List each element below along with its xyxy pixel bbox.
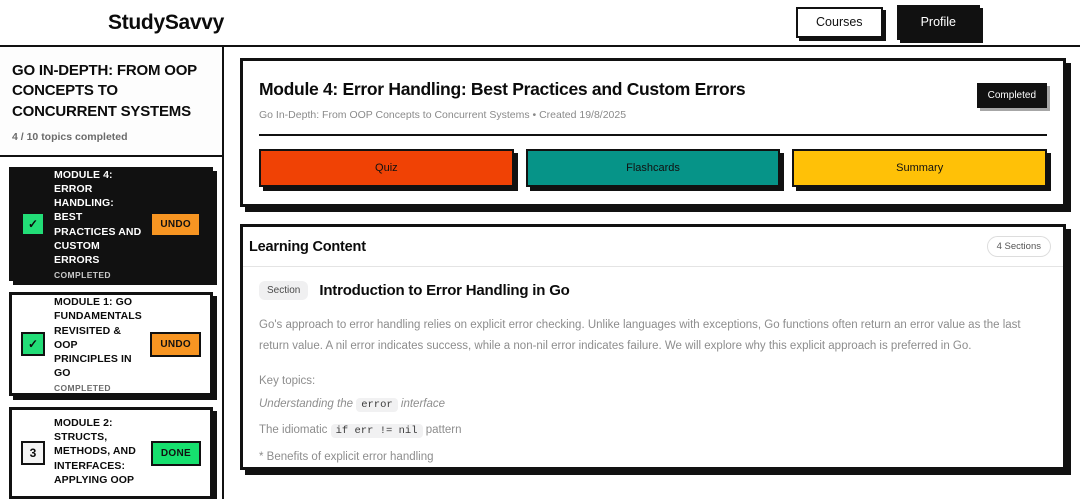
module-texts: MODULE 4: ERROR HANDLING: BEST PRACTICES… bbox=[54, 168, 141, 280]
module-detail-header: Module 4: Error Handling: Best Practices… bbox=[259, 79, 1047, 121]
module-action-row: Quiz Flashcards Summary bbox=[259, 149, 1047, 187]
check-icon: ✓ bbox=[21, 332, 45, 356]
inline-code: error bbox=[356, 398, 398, 412]
key-topic-item: * Benefits of explicit error handling bbox=[259, 448, 1047, 466]
profile-button[interactable]: Profile bbox=[897, 5, 980, 40]
module-status: COMPLETED bbox=[54, 270, 141, 280]
module-card-2[interactable]: 3 MODULE 2: STRUCTS, METHODS, AND INTERF… bbox=[9, 407, 213, 499]
section-title: Introduction to Error Handling in Go bbox=[319, 282, 569, 299]
page-title: Module 4: Error Handling: Best Practices… bbox=[259, 79, 977, 100]
module-status: COMPLETED bbox=[54, 383, 141, 393]
module-texts: MODULE 1: GO FUNDAMENTALS REVISITED & OO… bbox=[54, 295, 141, 393]
key-topics-label: Key topics: bbox=[259, 375, 1047, 387]
main-content: Module 4: Error Handling: Best Practices… bbox=[224, 47, 1080, 499]
course-progress-text: 4 / 10 topics completed bbox=[12, 131, 210, 143]
done-button[interactable]: DONE bbox=[151, 441, 201, 466]
module-detail-panel: Module 4: Error Handling: Best Practices… bbox=[240, 58, 1066, 207]
divider bbox=[259, 134, 1047, 136]
learning-content-title: Learning Content bbox=[249, 239, 366, 255]
module-number-badge: 3 bbox=[21, 441, 45, 465]
section-paragraph: Go's approach to error handling relies o… bbox=[259, 315, 1047, 358]
courses-button[interactable]: Courses bbox=[796, 7, 883, 38]
topic-text-pre: The idiomatic bbox=[259, 424, 331, 436]
module-title: MODULE 2: STRUCTS, METHODS, AND INTERFAC… bbox=[54, 416, 142, 487]
key-topic-item: Understanding the error interface bbox=[259, 395, 1047, 414]
top-bar-actions: Courses Profile bbox=[796, 5, 1064, 40]
breadcrumb: Go In-Depth: From OOP Concepts to Concur… bbox=[259, 109, 977, 121]
sidebar: GO IN-DEPTH: FROM OOP CONCEPTS TO CONCUR… bbox=[0, 47, 224, 499]
course-header: GO IN-DEPTH: FROM OOP CONCEPTS TO CONCUR… bbox=[0, 47, 222, 157]
module-title: MODULE 1: GO FUNDAMENTALS REVISITED & OO… bbox=[54, 295, 141, 380]
module-card-4[interactable]: ✓ MODULE 4: ERROR HANDLING: BEST PRACTIC… bbox=[9, 167, 213, 282]
module-list[interactable]: ✓ MODULE 4: ERROR HANDLING: BEST PRACTIC… bbox=[0, 157, 222, 499]
learning-content-header: Learning Content 4 Sections bbox=[243, 227, 1063, 267]
topic-text-pre: Understanding the bbox=[259, 398, 356, 410]
check-icon: ✓ bbox=[21, 212, 45, 236]
module-texts: MODULE 2: STRUCTS, METHODS, AND INTERFAC… bbox=[54, 416, 142, 490]
module-card-1[interactable]: ✓ MODULE 1: GO FUNDAMENTALS REVISITED & … bbox=[9, 292, 213, 396]
sections-count-badge: 4 Sections bbox=[987, 236, 1051, 257]
learning-content-panel: Learning Content 4 Sections Section Intr… bbox=[240, 224, 1066, 470]
module-title: MODULE 4: ERROR HANDLING: BEST PRACTICES… bbox=[54, 168, 141, 267]
key-topic-item: The idiomatic if err != nil pattern bbox=[259, 421, 1047, 440]
topic-text-post: interface bbox=[398, 398, 445, 410]
topic-text-post: pattern bbox=[423, 424, 462, 436]
learning-content-body: Section Introduction to Error Handling i… bbox=[243, 267, 1063, 467]
flashcards-button[interactable]: Flashcards bbox=[526, 149, 781, 187]
app-root: StudySavvy Courses Profile GO IN-DEPTH: … bbox=[0, 0, 1080, 499]
summary-button[interactable]: Summary bbox=[792, 149, 1047, 187]
course-title: GO IN-DEPTH: FROM OOP CONCEPTS TO CONCUR… bbox=[12, 61, 210, 122]
module-detail-titles: Module 4: Error Handling: Best Practices… bbox=[259, 79, 977, 121]
inline-code: if err != nil bbox=[331, 424, 423, 438]
brand-logo: StudySavvy bbox=[108, 11, 224, 35]
section-label-pill: Section bbox=[259, 281, 308, 300]
undo-button[interactable]: UNDO bbox=[150, 212, 201, 237]
body-split: GO IN-DEPTH: FROM OOP CONCEPTS TO CONCUR… bbox=[0, 47, 1080, 499]
status-badge: Completed bbox=[977, 83, 1047, 108]
top-bar: StudySavvy Courses Profile bbox=[0, 0, 1080, 47]
topic-text-pre: * Benefits of explicit error handling bbox=[259, 451, 434, 463]
section-header: Section Introduction to Error Handling i… bbox=[259, 281, 1047, 300]
undo-button[interactable]: UNDO bbox=[150, 332, 201, 357]
quiz-button[interactable]: Quiz bbox=[259, 149, 514, 187]
